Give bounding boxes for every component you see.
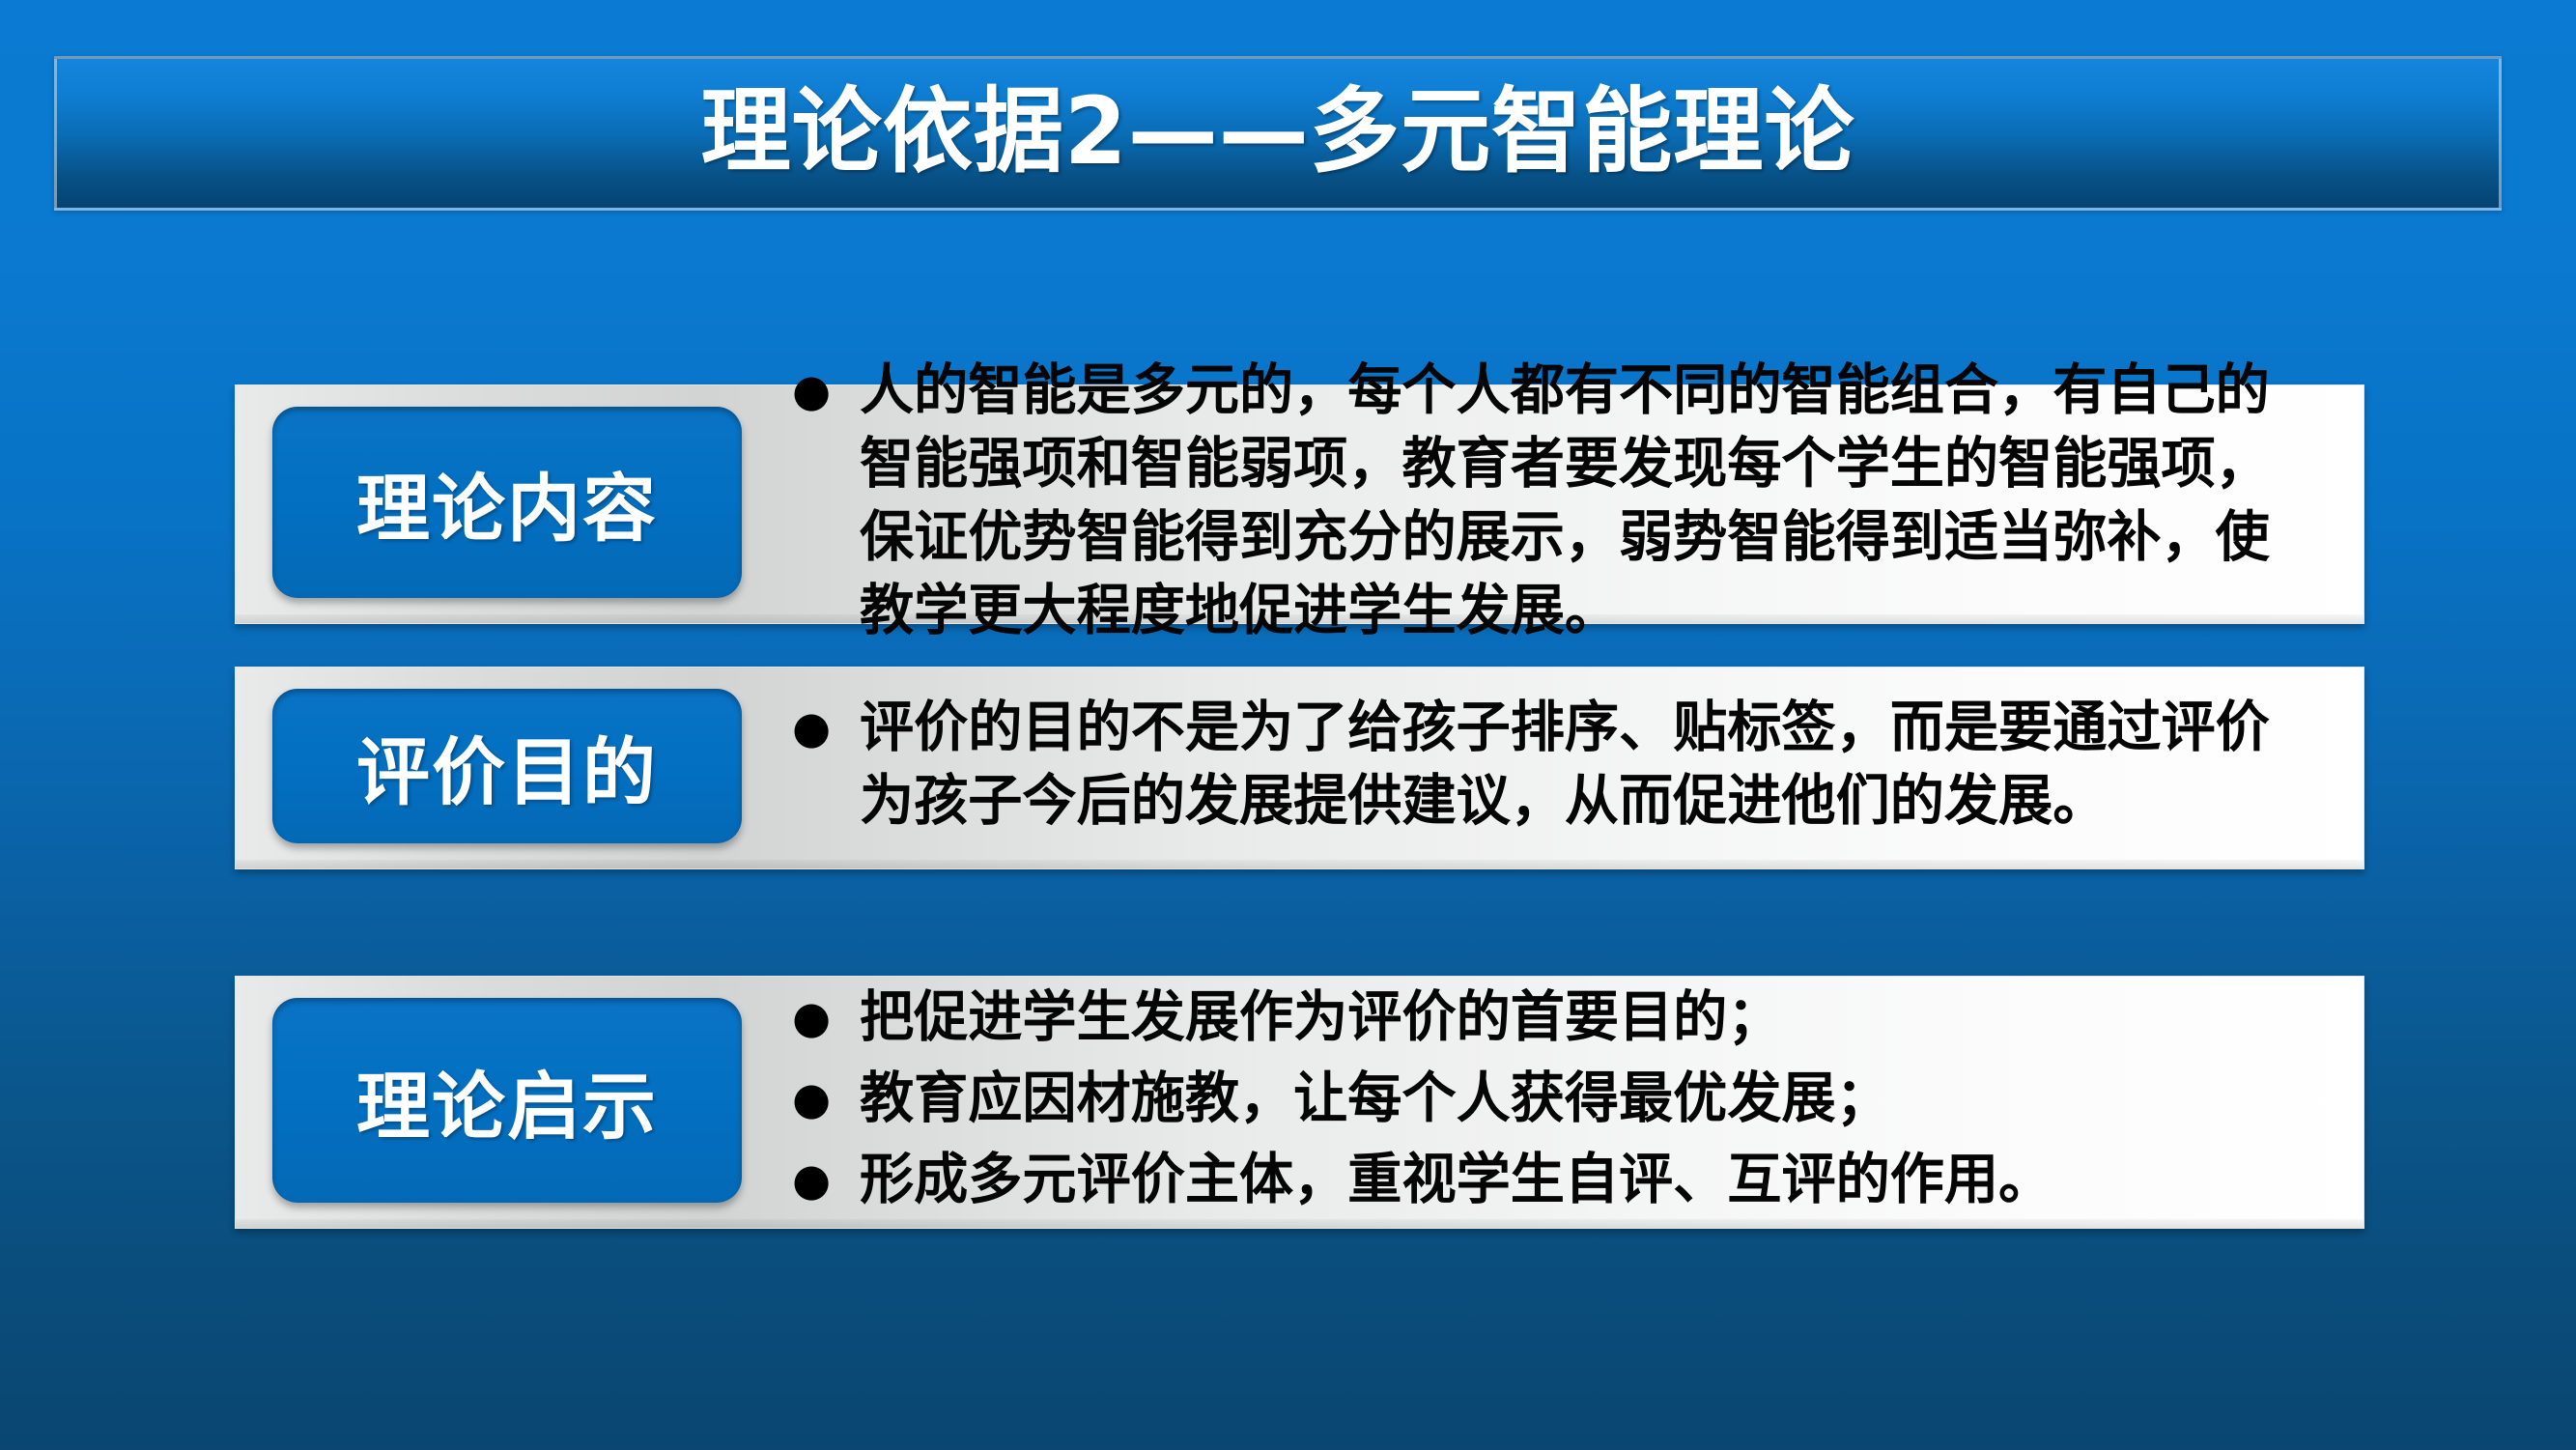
row-3-body: ● 把促进学生发展作为评价的首要目的； ● 教育应因材施教，让每个人获得最优发展… <box>742 977 2364 1228</box>
row-1-bullet-text-1: 人的智能是多元的，每个人都有不同的智能组合，有自己的智能强项和智能弱项，教育者要… <box>860 354 2301 647</box>
row-2-bullet-text-1: 评价的目的不是为了给孩子排序、贴标签，而是要通过评价为孩子今后的发展提供建议，从… <box>860 691 2301 838</box>
list-item: ● 评价的目的不是为了给孩子排序、贴标签，而是要通过评价为孩子今后的发展提供建议… <box>777 691 2323 838</box>
row-3-label-container: 理论启示 <box>236 977 742 1228</box>
row-2-label-chip[interactable]: 评价目的 <box>272 689 742 843</box>
row-1-label-chip[interactable]: 理论内容 <box>272 407 742 598</box>
bullet-dot-icon: ● <box>777 1061 860 1136</box>
slide-title-bar: 理论依据2——多元智能理论 <box>54 56 2502 211</box>
page-title: 理论依据2——多元智能理论 <box>94 85 2462 178</box>
row-3-label-chip[interactable]: 理论启示 <box>272 998 742 1203</box>
list-item: ● 形成多元评价主体，重视学生自评、互评的作用。 <box>777 1142 2323 1217</box>
content-panel-row-3: 理论启示 ● 把促进学生发展作为评价的首要目的； ● 教育应因材施教，让每个人获… <box>235 976 2364 1229</box>
row-2-body: ● 评价的目的不是为了给孩子排序、贴标签，而是要通过评价为孩子今后的发展提供建议… <box>742 668 2364 868</box>
list-item: ● 把促进学生发展作为评价的首要目的； <box>777 980 2323 1055</box>
bullet-dot-icon: ● <box>777 980 860 1055</box>
list-item: ● 教育应因材施教，让每个人获得最优发展； <box>777 1061 2323 1136</box>
row-2-label-container: 评价目的 <box>236 668 742 868</box>
row-3-bullet-text-2: 教育应因材施教，让每个人获得最优发展； <box>860 1061 2301 1136</box>
content-panel-row-2: 评价目的 ● 评价的目的不是为了给孩子排序、贴标签，而是要通过评价为孩子今后的发… <box>235 667 2364 869</box>
row-3-bullet-text-1: 把促进学生发展作为评价的首要目的； <box>860 980 2301 1055</box>
list-item: ● 人的智能是多元的，每个人都有不同的智能组合，有自己的智能强项和智能弱项，教育… <box>777 354 2323 647</box>
row-3-bullet-text-3: 形成多元评价主体，重视学生自评、互评的作用。 <box>860 1142 2301 1217</box>
bullet-dot-icon: ● <box>777 1142 860 1217</box>
slide-canvas: 理论依据2——多元智能理论 理论内容 ● 人的智能是多元的，每个人都有不同的智能… <box>0 0 2576 1450</box>
row-1-body: ● 人的智能是多元的，每个人都有不同的智能组合，有自己的智能强项和智能弱项，教育… <box>742 385 2364 623</box>
bullet-dot-icon: ● <box>777 691 860 764</box>
bullet-dot-icon: ● <box>777 354 860 427</box>
row-1-label-container: 理论内容 <box>236 385 742 623</box>
content-panel-row-1: 理论内容 ● 人的智能是多元的，每个人都有不同的智能组合，有自己的智能强项和智能… <box>235 384 2364 624</box>
